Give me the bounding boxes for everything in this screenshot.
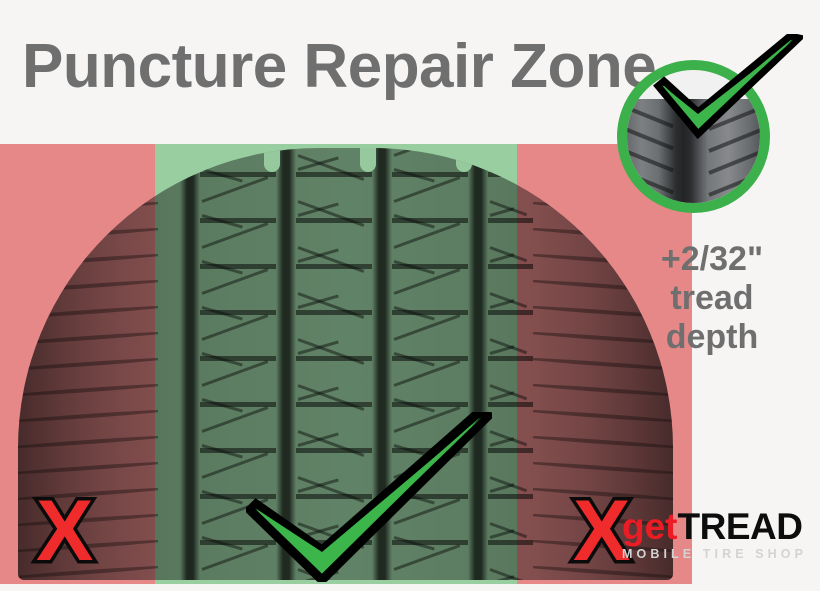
- badge-tread-sipe: [624, 193, 674, 213]
- tread-depth-caption: +2/32" tread depth: [612, 240, 812, 356]
- caption-line-1: +2/32": [612, 240, 812, 279]
- caption-line-2: tread: [612, 279, 812, 318]
- brand-logo[interactable]: getTREAD MOBILE TIRE SHOP: [622, 508, 814, 561]
- x-mark-left: X: [36, 488, 93, 574]
- caption-line-3: depth: [612, 318, 812, 357]
- logo-get-text: get: [622, 506, 678, 547]
- badge-tread-sipe: [624, 171, 674, 194]
- green-checkmark-icon: [246, 412, 492, 582]
- badge-tread-sipe: [708, 149, 765, 175]
- tread-depth-badge: [617, 34, 802, 219]
- badge-tread-sipe: [708, 171, 765, 197]
- tire-illustration: X X: [0, 130, 690, 580]
- logo-tread-text: TREAD: [678, 506, 803, 547]
- infographic-canvas: X X Puncture Repair Zone +2/32" tread de…: [0, 0, 820, 591]
- page-title: Puncture Repair Zone: [22, 36, 656, 98]
- logo-wordmark: getTREAD: [622, 508, 814, 545]
- badge-checkmark-icon: [653, 34, 803, 146]
- logo-tagline: MOBILE TIRE SHOP: [622, 547, 814, 561]
- badge-tread-sipe: [624, 149, 674, 172]
